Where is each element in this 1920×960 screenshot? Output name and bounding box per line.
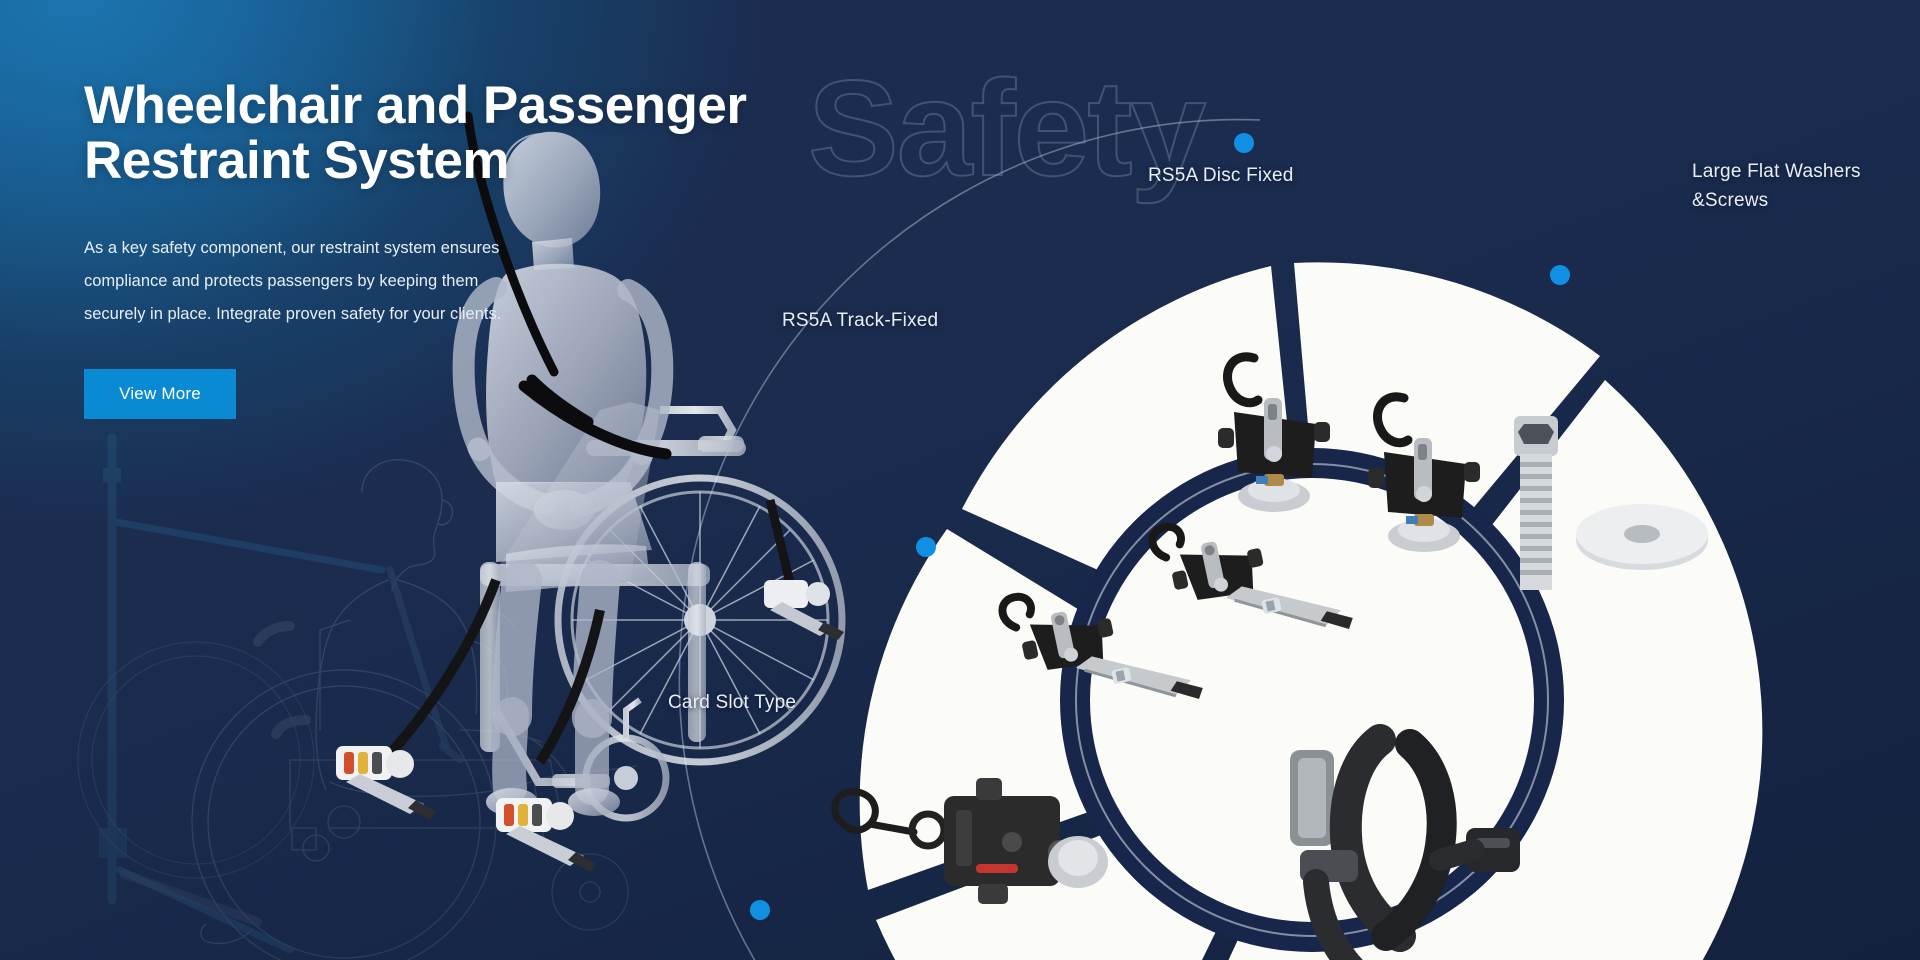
callout-label-card-slot-type[interactable]: Card Slot Type bbox=[668, 692, 796, 714]
page-title-line-1: Wheelchair and Passenger bbox=[84, 76, 747, 135]
floor-anchor-left bbox=[336, 746, 436, 820]
callout-label-large-flat-washers-screws[interactable]: Large Flat Washers &Screws bbox=[1692, 157, 1882, 216]
hero-banner: Safety bbox=[0, 0, 1920, 960]
view-more-button[interactable]: View More bbox=[84, 369, 236, 419]
connector-dot-disc-fixed bbox=[1234, 133, 1254, 153]
page-title-line-2: Restraint System bbox=[84, 131, 509, 190]
hero-description: As a key safety component, our restraint… bbox=[84, 232, 504, 331]
callout-label-rs5a-track-fixed[interactable]: RS5A Track-Fixed bbox=[782, 310, 938, 332]
floor-anchor-rear bbox=[764, 580, 844, 640]
hero-copy: Wheelchair and Passenger Restraint Syste… bbox=[84, 78, 784, 419]
page-title: Wheelchair and Passenger Restraint Syste… bbox=[84, 78, 784, 188]
connector-dot-washers bbox=[1550, 265, 1570, 285]
front-left-tiedown-strap bbox=[386, 580, 496, 758]
callout-label-rs5a-disc-fixed[interactable]: RS5A Disc Fixed bbox=[1148, 165, 1294, 187]
